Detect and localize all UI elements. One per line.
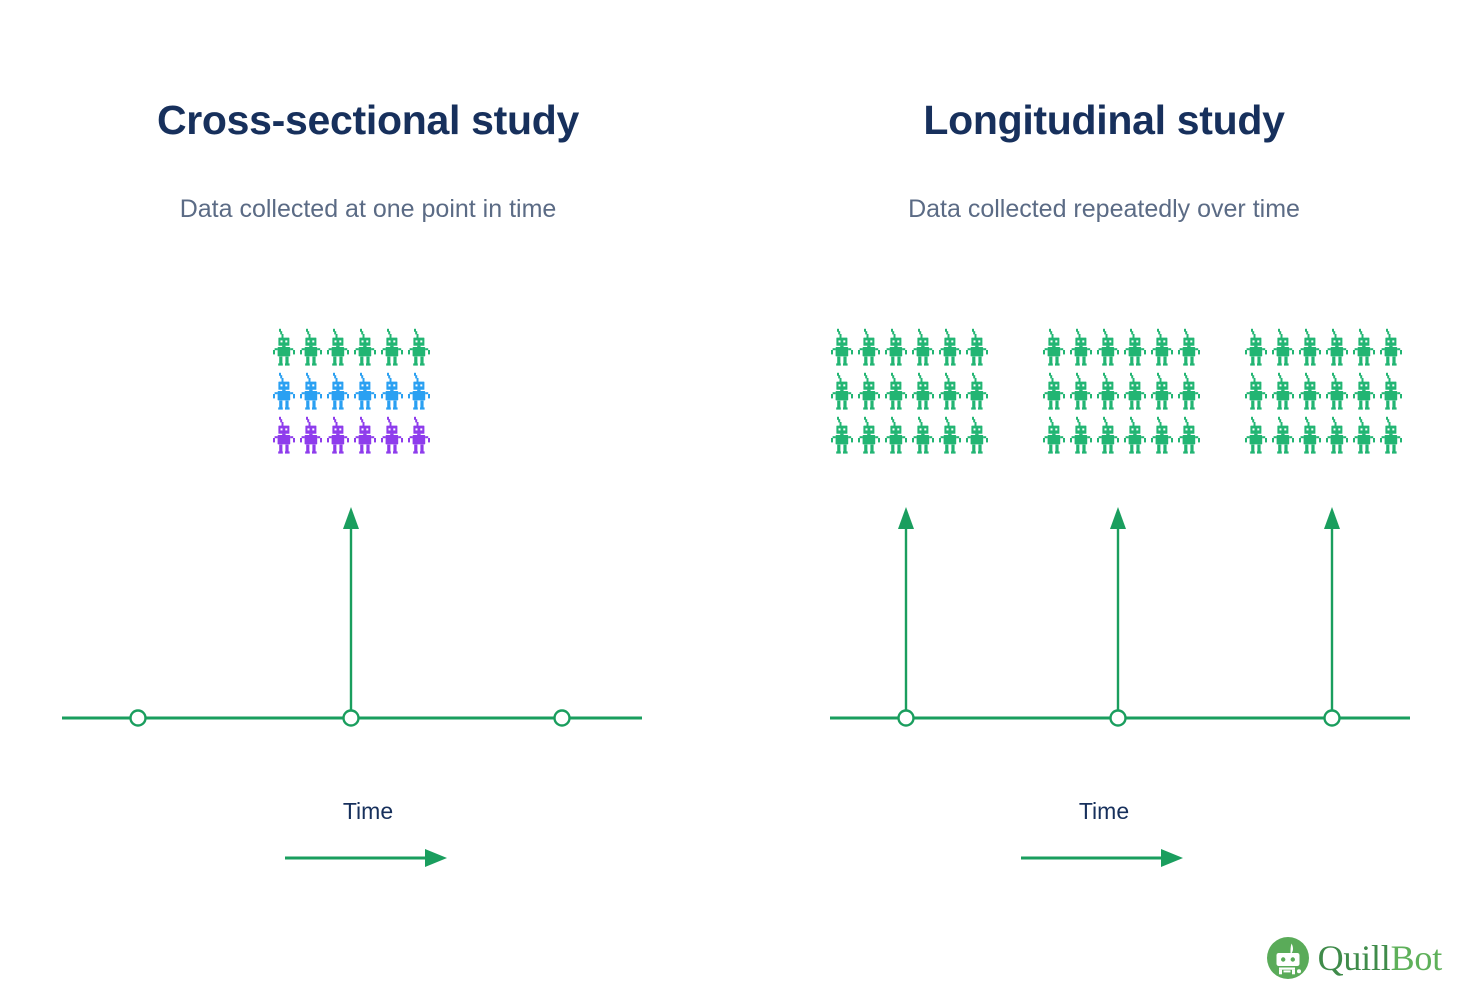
robot-figure-icon xyxy=(938,372,965,412)
timeline-marker-2[interactable] xyxy=(344,711,359,726)
timeline-marker-3[interactable] xyxy=(555,711,570,726)
robot-row xyxy=(1042,372,1204,416)
panel-cross-sectional: Cross-sectional study Data collected at … xyxy=(0,0,736,1006)
robot-figure-icon xyxy=(1177,372,1204,412)
robot-group-cohort-single-timepoint xyxy=(272,328,434,460)
robot-figure-icon xyxy=(407,416,434,456)
robot-figure-icon xyxy=(1150,416,1177,456)
robot-figure-icon xyxy=(1352,372,1379,412)
robot-figure-icon xyxy=(884,328,911,368)
time-axis-label-left: Time xyxy=(0,798,736,825)
robot-figure-icon xyxy=(938,416,965,456)
robot-figure-icon xyxy=(857,416,884,456)
robot-figure-icon xyxy=(1271,416,1298,456)
timeline-marker-1[interactable] xyxy=(899,711,914,726)
robot-figure-icon xyxy=(1177,328,1204,368)
robot-figure-icon xyxy=(857,372,884,412)
robot-figure-icon xyxy=(353,372,380,412)
robot-figure-icon xyxy=(1069,328,1096,368)
robot-row xyxy=(272,328,434,372)
robot-row xyxy=(1244,372,1406,416)
robot-figure-icon xyxy=(965,416,992,456)
robot-figure-icon xyxy=(1379,372,1406,412)
timeline-marker-1[interactable] xyxy=(131,711,146,726)
subtitle-longitudinal: Data collected repeatedly over time xyxy=(869,193,1339,227)
robot-figure-icon xyxy=(1325,372,1352,412)
timeline-cross-sectional xyxy=(0,490,736,740)
robot-figure-icon xyxy=(1150,328,1177,368)
robot-group-cohort-wave-3 xyxy=(1244,328,1406,460)
collection-arrow-2 xyxy=(1110,507,1126,718)
robot-figure-icon xyxy=(1123,416,1150,456)
robot-row xyxy=(1042,416,1204,460)
robot-figure-icon xyxy=(1298,328,1325,368)
robot-figure-icon xyxy=(407,328,434,368)
robot-figure-icon xyxy=(911,328,938,368)
robot-figure-icon xyxy=(1379,416,1406,456)
robot-figure-icon xyxy=(272,372,299,412)
robot-figure-icon xyxy=(911,372,938,412)
robot-figure-icon xyxy=(326,416,353,456)
robot-figure-icon xyxy=(380,416,407,456)
robot-figure-icon xyxy=(1325,328,1352,368)
collection-arrow-1 xyxy=(898,507,914,718)
robot-figure-icon xyxy=(353,416,380,456)
time-axis-label-right: Time xyxy=(736,798,1472,825)
robot-figure-icon xyxy=(326,372,353,412)
robot-figure-icon xyxy=(1271,372,1298,412)
collection-arrow-3 xyxy=(1324,507,1340,718)
robot-figure-icon xyxy=(299,328,326,368)
time-direction-arrow-right xyxy=(1019,840,1189,876)
robot-figure-icon xyxy=(884,416,911,456)
robot-figure-icon xyxy=(938,328,965,368)
robot-figure-icon xyxy=(272,416,299,456)
robot-figure-icon xyxy=(830,372,857,412)
panel-longitudinal: Longitudinal study Data collected repeat… xyxy=(736,0,1472,1006)
robot-figure-icon xyxy=(272,328,299,368)
quillbot-logo[interactable]: QuillBot xyxy=(1266,936,1442,980)
robot-row xyxy=(1244,328,1406,372)
robot-figure-icon xyxy=(911,416,938,456)
collection-arrow-1 xyxy=(343,507,359,718)
robot-figure-icon xyxy=(1096,416,1123,456)
robot-group-cohort-wave-1 xyxy=(830,328,992,460)
brand-word-bot: Bot xyxy=(1391,938,1442,978)
robot-row xyxy=(272,416,434,460)
robot-row xyxy=(830,372,992,416)
robot-figure-icon xyxy=(1123,328,1150,368)
robot-figure-icon xyxy=(1271,328,1298,368)
robot-figure-icon xyxy=(1042,416,1069,456)
time-direction-arrow-left xyxy=(283,840,453,876)
robot-figure-icon xyxy=(965,328,992,368)
robot-figure-icon xyxy=(1096,372,1123,412)
subtitle-cross-sectional: Data collected at one point in time xyxy=(133,193,603,227)
robot-figure-icon xyxy=(353,328,380,368)
robot-row xyxy=(830,328,992,372)
robot-figure-icon xyxy=(1244,372,1271,412)
timeline-marker-2[interactable] xyxy=(1111,711,1126,726)
robot-row xyxy=(1042,328,1204,372)
timeline-marker-3[interactable] xyxy=(1325,711,1340,726)
figure-zone-longitudinal xyxy=(736,328,1472,468)
robot-figure-icon xyxy=(1042,328,1069,368)
robot-figure-icon xyxy=(1069,372,1096,412)
robot-group-cohort-wave-2 xyxy=(1042,328,1204,460)
robot-figure-icon xyxy=(1177,416,1204,456)
robot-figure-icon xyxy=(1352,328,1379,368)
robot-figure-icon xyxy=(407,372,434,412)
robot-figure-icon xyxy=(299,416,326,456)
robot-figure-icon xyxy=(857,328,884,368)
robot-figure-icon xyxy=(299,372,326,412)
robot-figure-icon xyxy=(1042,372,1069,412)
robot-figure-icon xyxy=(1123,372,1150,412)
robot-figure-icon xyxy=(965,372,992,412)
robot-row xyxy=(830,416,992,460)
robot-figure-icon xyxy=(326,328,353,368)
page-title-longitudinal: Longitudinal study xyxy=(736,97,1472,144)
page-title-cross-sectional: Cross-sectional study xyxy=(0,97,736,144)
robot-figure-icon xyxy=(1150,372,1177,412)
robot-figure-icon xyxy=(1244,328,1271,368)
robot-figure-icon xyxy=(884,372,911,412)
robot-figure-icon xyxy=(830,328,857,368)
robot-figure-icon xyxy=(1069,416,1096,456)
robot-row xyxy=(1244,416,1406,460)
robot-figure-icon xyxy=(380,328,407,368)
robot-figure-icon xyxy=(1096,328,1123,368)
robot-figure-icon xyxy=(380,372,407,412)
brand-wordmark: QuillBot xyxy=(1318,940,1442,976)
robot-row xyxy=(272,372,434,416)
robot-figure-icon xyxy=(1352,416,1379,456)
robot-figure-icon xyxy=(1298,416,1325,456)
robot-figure-icon xyxy=(830,416,857,456)
robot-figure-icon xyxy=(1379,328,1406,368)
robot-figure-icon xyxy=(1244,416,1271,456)
quillbot-robot-icon xyxy=(1266,936,1310,980)
timeline-longitudinal xyxy=(736,490,1472,740)
figure-zone-cross-sectional xyxy=(0,328,736,468)
robot-figure-icon xyxy=(1298,372,1325,412)
robot-figure-icon xyxy=(1325,416,1352,456)
brand-word-quill: Quill xyxy=(1318,938,1391,978)
